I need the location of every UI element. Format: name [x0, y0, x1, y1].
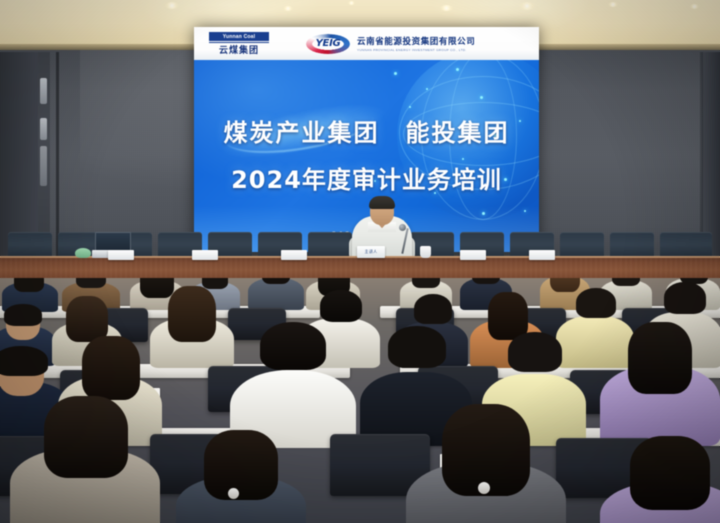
wall-chrome-accent: [40, 78, 47, 104]
attendee: [150, 296, 234, 368]
desk-object: [75, 248, 91, 258]
downlight-icon: [690, 4, 699, 9]
downlight-icon: [283, 6, 293, 11]
presentation-title-line1: 煤炭产业集团 能投集团: [194, 113, 539, 148]
yeig-company-name: 云南省能源投资集团有限公司 YUNNAN PROVINCIAL ENERGY I…: [357, 35, 475, 53]
screen-logo-bar: Yunnan Coal 云煤集团 YEIG 云南省能源投资集团有限公司 YUNN…: [194, 27, 539, 60]
company-name-english: YUNNAN PROVINCIAL ENERGY INVESTMENT GROU…: [357, 48, 475, 52]
podium-name-card: [281, 250, 307, 260]
attendee: [600, 454, 720, 523]
conference-room-photo: Yunnan Coal 云煤集团 YEIG 云南省能源投资集团有限公司 YUNN…: [0, 0, 720, 523]
attendee: [248, 278, 304, 310]
downlight-icon: [608, 2, 618, 7]
yunnan-coal-latin: Yunnan Coal: [209, 32, 269, 41]
downlight-icon: [348, 1, 355, 5]
podium-name-card: [108, 250, 134, 260]
yunnan-coal-logo: Yunnan Coal 云煤集团: [209, 32, 269, 56]
yeig-logo-mark: YEIG: [306, 33, 350, 55]
microphone-icon: [399, 224, 406, 231]
hair-tie: [228, 488, 239, 499]
hair-tie: [478, 482, 490, 494]
speaker-name-card: 主讲人: [357, 246, 385, 258]
network-dot: [394, 72, 397, 75]
attendee: [406, 428, 566, 523]
attendee: [176, 448, 306, 523]
speaker-name-card-text: 主讲人: [365, 249, 378, 255]
wall-chrome-accent: [40, 146, 47, 186]
downlight-icon: [165, 2, 179, 9]
attendee: [600, 336, 720, 446]
yunnan-coal-chinese: 云煤集团: [209, 43, 269, 55]
attendee: [10, 418, 160, 523]
podium-name-card: [529, 250, 555, 260]
audience-area: [0, 278, 720, 523]
downlight-icon: [519, 2, 535, 10]
network-dot: [456, 68, 459, 71]
network-dot: [409, 106, 411, 108]
network-dot: [426, 88, 428, 90]
company-name-chinese: 云南省能源投资集团有限公司: [357, 35, 475, 47]
water-cup: [420, 246, 431, 258]
downlight-icon: [440, 5, 453, 11]
presentation-title-line2: 2024年度审计业务培训: [194, 160, 539, 195]
yeig-wordmark: YEIG: [311, 38, 345, 49]
network-dot: [480, 96, 483, 99]
podium-name-card: [460, 250, 486, 260]
speaker-hair: [369, 196, 395, 209]
podium-name-card: [192, 250, 218, 260]
wall-chrome-accent: [40, 118, 47, 140]
